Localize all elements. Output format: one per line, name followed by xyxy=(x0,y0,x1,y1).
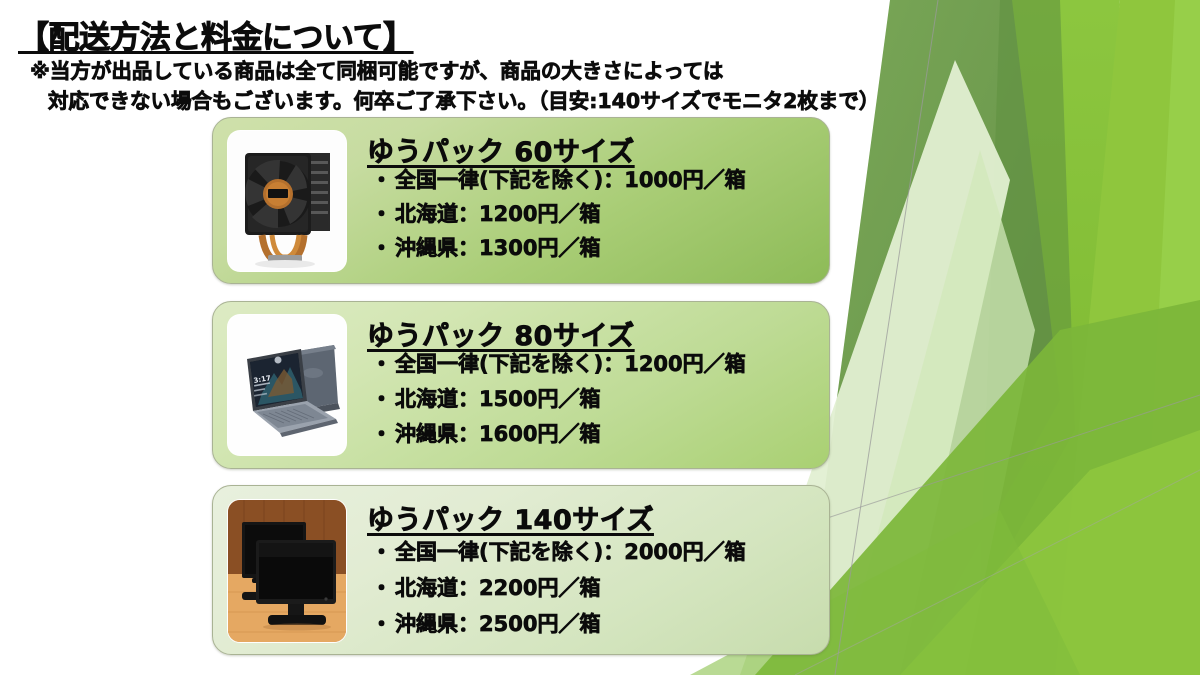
card-body-80: ゆうパック 80サイズ ・全国一律(下記を除く)：1200円／箱 ・北海道：15… xyxy=(361,302,819,468)
card-body-140: ゆうパック 140サイズ ・全国一律(下記を除く)：2000円／箱 ・北海道：2… xyxy=(361,486,819,654)
cpu-cooler-icon xyxy=(228,131,346,271)
price-unit: ／箱 xyxy=(558,612,600,636)
shipping-note: ※当方が出品している商品は全て同梱可能ですが、商品の大きさによっては 対応できな… xyxy=(30,57,879,116)
price-row: ・全国一律(下記を除く)：1200円／箱 xyxy=(371,354,819,375)
price-row: ・全国一律(下記を除く)：1000円／箱 xyxy=(371,170,819,191)
price-value: 2200円 xyxy=(479,576,558,600)
shipping-card-60: ゆうパック 60サイズ ・全国一律(下記を除く)：1000円／箱 ・北海道：12… xyxy=(212,117,830,284)
price-value: 1200円 xyxy=(624,352,703,376)
price-list-60: ・全国一律(下記を除く)：1000円／箱 ・北海道：1200円／箱 ・沖縄県：1… xyxy=(371,170,819,272)
price-unit: ／箱 xyxy=(704,168,746,192)
price-unit: ／箱 xyxy=(558,236,600,260)
price-label: 沖縄県： xyxy=(395,612,479,636)
shipping-card-80: 3:17 ゆうパック 80サイズ xyxy=(212,301,830,469)
bullet-dot: ・ xyxy=(371,204,392,225)
monitor-icon xyxy=(228,500,346,642)
shipping-note-line2: 対応できない場合もございます。何卒ご了承下さい。（目安:140サイズでモニタ2枚… xyxy=(30,87,879,117)
thumbnail-monitor xyxy=(227,499,347,643)
price-value: 1200円 xyxy=(479,202,558,226)
bullet-dot: ・ xyxy=(371,389,392,410)
card-body-60: ゆうパック 60サイズ ・全国一律(下記を除く)：1000円／箱 ・北海道：12… xyxy=(361,118,819,283)
laptop-icon: 3:17 xyxy=(228,315,346,455)
price-row: ・北海道：2200円／箱 xyxy=(371,578,819,599)
price-label: 北海道： xyxy=(395,202,479,226)
shipping-card-140: ゆうパック 140サイズ ・全国一律(下記を除く)：2000円／箱 ・北海道：2… xyxy=(212,485,830,655)
price-value: 1500円 xyxy=(479,387,558,411)
bullet-dot: ・ xyxy=(371,424,392,445)
price-row: ・北海道：1200円／箱 xyxy=(371,204,819,225)
bullet-dot: ・ xyxy=(371,614,392,635)
price-unit: ／箱 xyxy=(704,540,746,564)
price-label: 北海道： xyxy=(395,576,479,600)
card-title-60: ゆうパック 60サイズ xyxy=(367,130,635,169)
price-row: ・北海道：1500円／箱 xyxy=(371,389,819,410)
price-row: ・全国一律(下記を除く)：2000円／箱 xyxy=(371,542,819,563)
price-value: 1000円 xyxy=(624,168,703,192)
slide-canvas: 【配送方法と料金について】 ※当方が出品している商品は全て同梱可能ですが、商品の… xyxy=(0,0,1200,675)
price-label: 沖縄県： xyxy=(395,236,479,260)
price-label: 北海道： xyxy=(395,387,479,411)
price-list-140: ・全国一律(下記を除く)：2000円／箱 ・北海道：2200円／箱 ・沖縄県：2… xyxy=(371,542,819,650)
price-label: 全国一律(下記を除く)： xyxy=(395,352,624,376)
card-title-140: ゆうパック 140サイズ xyxy=(367,498,654,537)
thumbnail-laptop: 3:17 xyxy=(227,314,347,456)
bullet-dot: ・ xyxy=(371,170,392,191)
price-unit: ／箱 xyxy=(558,202,600,226)
price-label: 全国一律(下記を除く)： xyxy=(395,540,624,564)
price-label: 全国一律(下記を除く)： xyxy=(395,168,624,192)
shipping-note-line1: ※当方が出品している商品は全て同梱可能ですが、商品の大きさによっては xyxy=(30,59,723,83)
price-list-80: ・全国一律(下記を除く)：1200円／箱 ・北海道：1500円／箱 ・沖縄県：1… xyxy=(371,354,819,459)
price-unit: ／箱 xyxy=(558,422,600,446)
price-row: ・沖縄県：1600円／箱 xyxy=(371,424,819,445)
bullet-dot: ・ xyxy=(371,238,392,259)
bullet-dot: ・ xyxy=(371,354,392,375)
price-unit: ／箱 xyxy=(558,576,600,600)
bullet-dot: ・ xyxy=(371,578,392,599)
price-unit: ／箱 xyxy=(704,352,746,376)
thumbnail-cpu-cooler xyxy=(227,130,347,272)
price-value: 2500円 xyxy=(479,612,558,636)
price-value: 2000円 xyxy=(624,540,703,564)
price-row: ・沖縄県：1300円／箱 xyxy=(371,238,819,259)
bullet-dot: ・ xyxy=(371,542,392,563)
price-label: 沖縄県： xyxy=(395,422,479,446)
price-value: 1300円 xyxy=(479,236,558,260)
price-row: ・沖縄県：2500円／箱 xyxy=(371,614,819,635)
page-title: 【配送方法と料金について】 xyxy=(18,12,414,57)
card-title-80: ゆうパック 80サイズ xyxy=(367,314,635,353)
price-value: 1600円 xyxy=(479,422,558,446)
price-unit: ／箱 xyxy=(558,387,600,411)
